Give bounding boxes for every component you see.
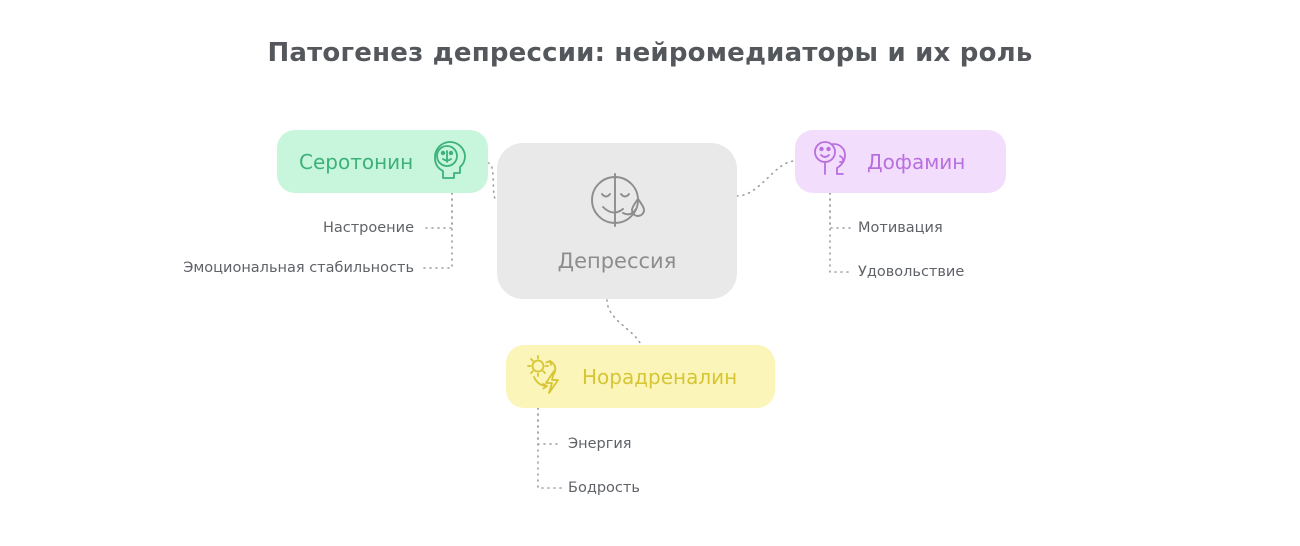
link-dopamine-child-1 <box>830 193 852 272</box>
link-norepinephrine-child-1 <box>538 408 562 488</box>
head-brain-face-icon <box>428 138 470 186</box>
node-norepinephrine-label: Норадреналин <box>582 365 737 389</box>
head-smiley-face-icon <box>811 138 853 186</box>
link-central-norepinephrine <box>607 300 641 345</box>
node-dopamine-label: Дофамин <box>867 150 965 174</box>
node-central-label: Депрессия <box>558 249 677 273</box>
link-dopamine-child-0 <box>830 193 852 228</box>
sun-lightning-energy-icon <box>524 353 568 401</box>
sad-happy-face-tear-icon <box>585 169 649 235</box>
sublabel-norepinephrine-1: Бодрость <box>568 480 640 496</box>
link-norepinephrine-child-0 <box>538 408 562 444</box>
node-serotonin[interactable]: Серотонин <box>277 130 488 193</box>
sublabel-serotonin-1: Эмоциональная стабильность <box>174 260 414 276</box>
node-serotonin-label: Серотонин <box>299 150 413 174</box>
link-central-dopamine <box>737 161 795 196</box>
node-central-depression[interactable]: Депрессия <box>497 143 737 299</box>
page-title: Патогенез депрессии: нейромедиаторы и их… <box>0 38 1300 68</box>
node-dopamine[interactable]: Дофамин <box>795 130 1006 193</box>
node-norepinephrine[interactable]: Норадреналин <box>506 345 775 408</box>
link-serotonin-child-1 <box>424 193 452 268</box>
sublabel-norepinephrine-0: Энергия <box>568 436 632 452</box>
diagram-canvas: Патогенез депрессии: нейромедиаторы и их… <box>0 0 1300 546</box>
sublabel-dopamine-1: Удовольствие <box>858 264 964 280</box>
link-serotonin-child-0 <box>424 193 452 228</box>
link-central-serotonin <box>488 163 497 200</box>
sublabel-serotonin-0: Настроение <box>174 220 414 236</box>
sublabel-dopamine-0: Мотивация <box>858 220 943 236</box>
